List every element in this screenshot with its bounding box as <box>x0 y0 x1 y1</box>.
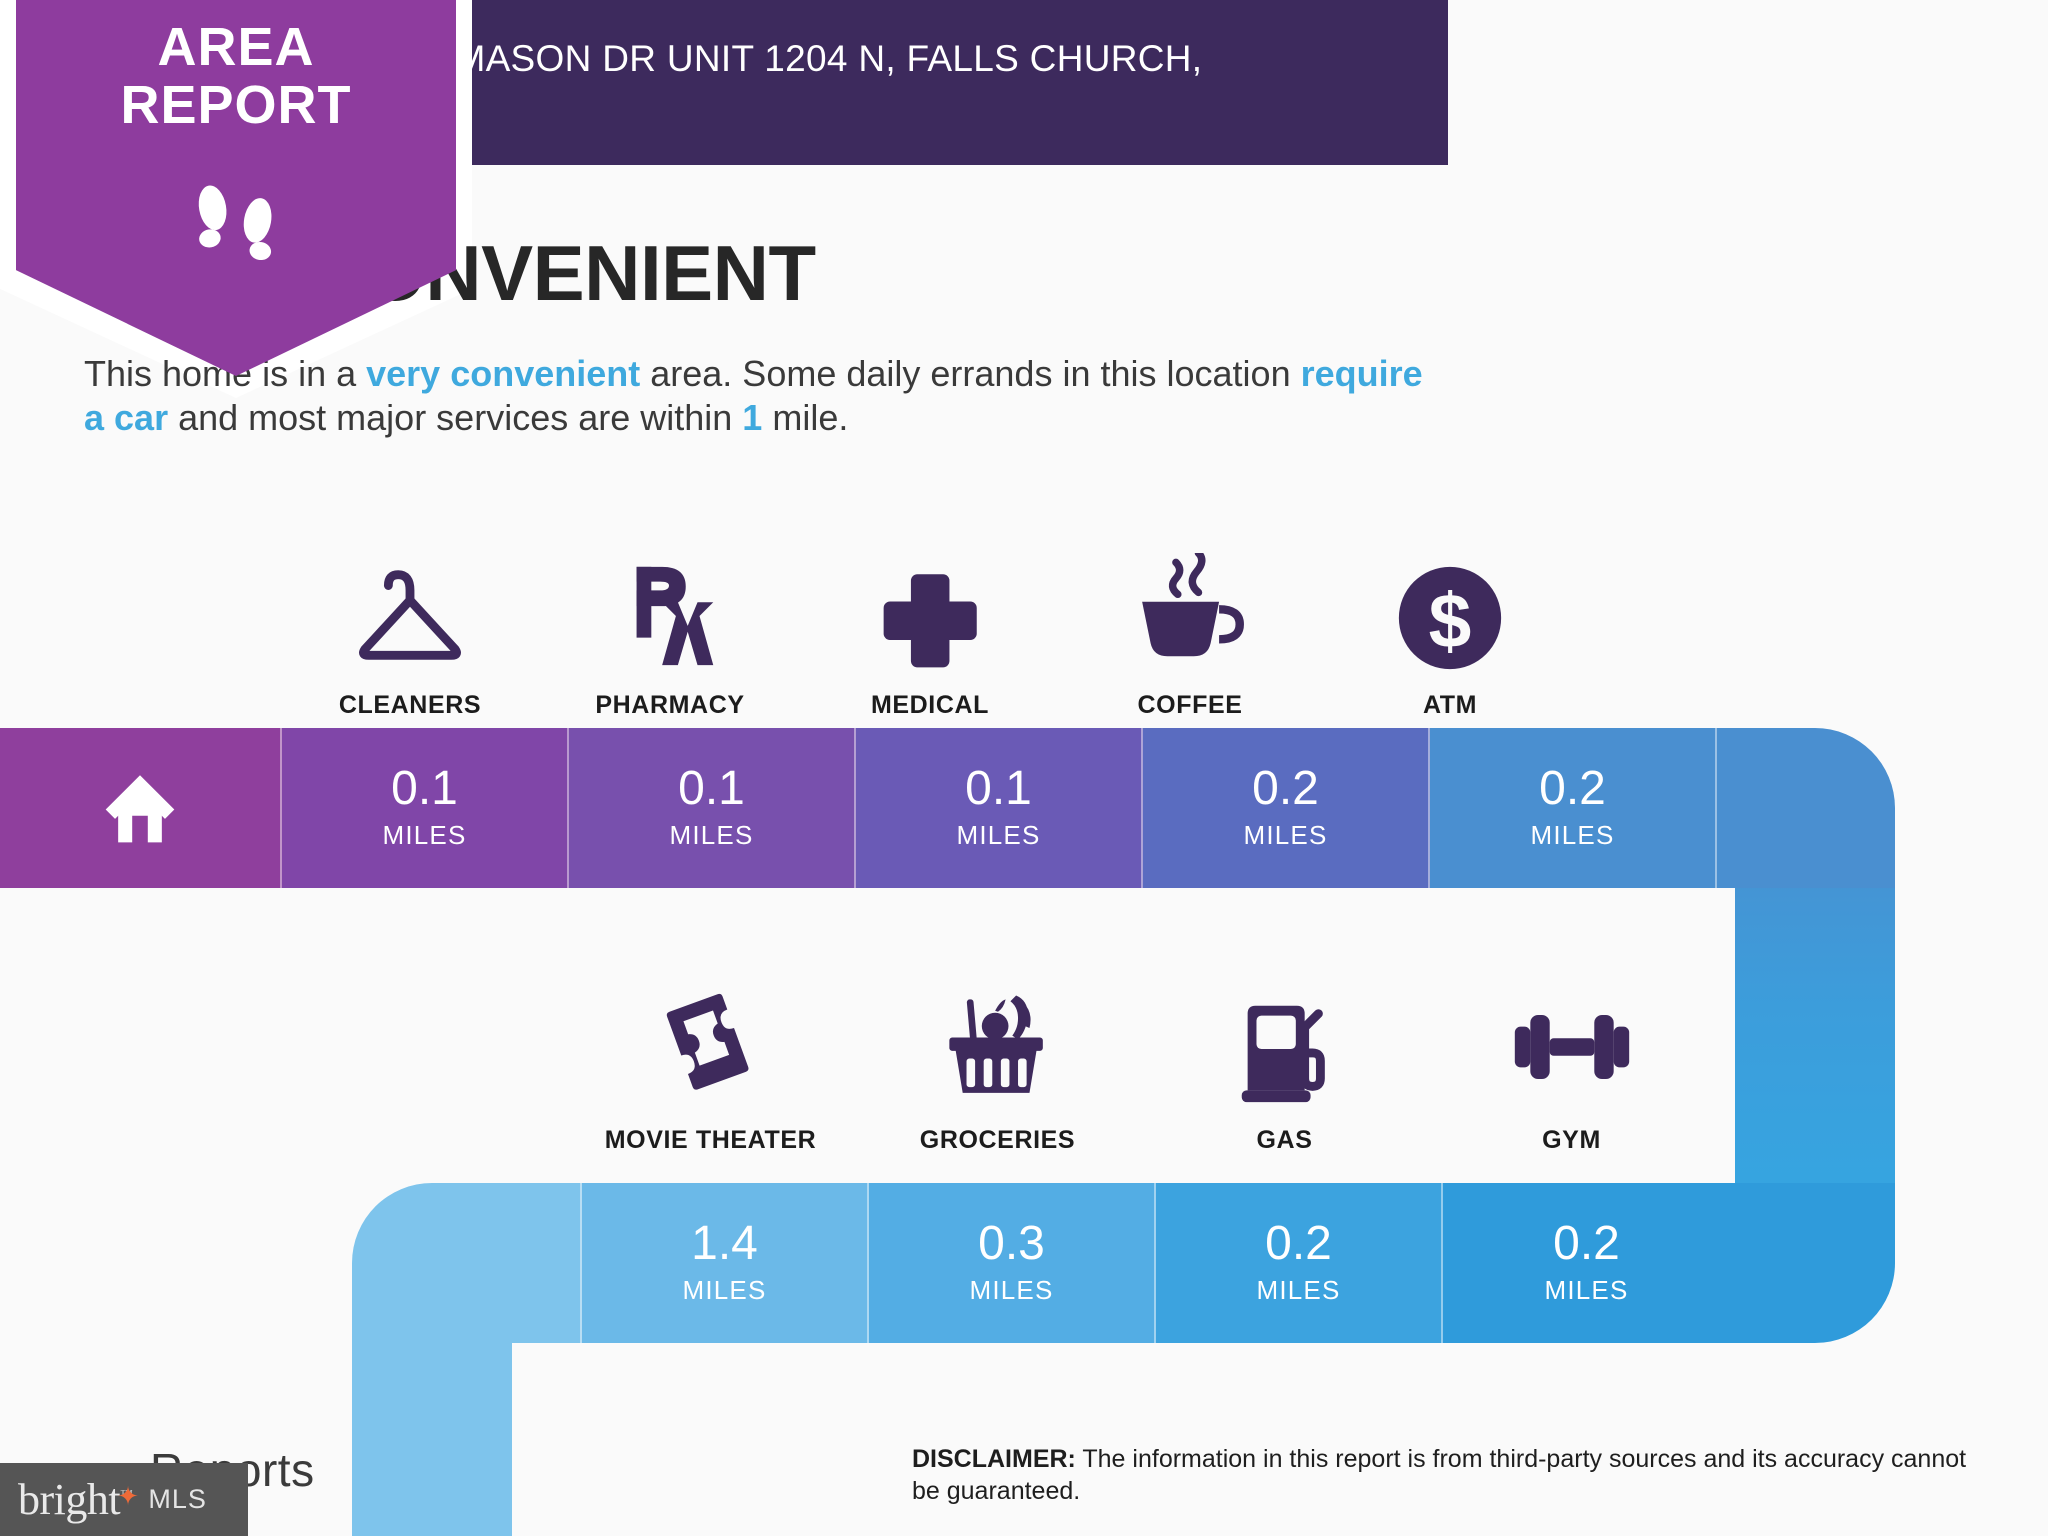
amenity-label: GAS <box>1257 1126 1313 1155</box>
dumbbell-icon <box>1509 990 1635 1110</box>
hanger-icon <box>351 555 469 675</box>
amenity-label: MOVIE THEATER <box>605 1126 817 1155</box>
bar-segment-medical: 0.1 MILES <box>856 728 1143 888</box>
bar-segment-spacer-right <box>1730 1183 1895 1343</box>
desc-highlight-1: very convenient <box>366 353 640 394</box>
ticket-icon <box>652 990 770 1110</box>
bar-segment-gas: 0.2 MILES <box>1156 1183 1443 1343</box>
amenity-gas: GAS <box>1141 955 1428 1155</box>
grocery-basket-icon <box>936 990 1060 1110</box>
distance-value: 0.3 <box>978 1220 1045 1268</box>
desc-part-4: mile. <box>762 397 848 438</box>
amenity-label: ATM <box>1423 691 1477 720</box>
amenity-label: GROCERIES <box>920 1126 1075 1155</box>
distance-value: 0.1 <box>965 765 1032 813</box>
amenity-label: CLEANERS <box>339 691 481 720</box>
distance-unit: MILES <box>1256 1275 1340 1306</box>
amenity-icons-row-1: CLEANERS PHARMACY MEDICAL <box>280 520 1580 720</box>
rx-icon <box>611 555 729 675</box>
amenity-coffee: COFFEE <box>1060 520 1320 720</box>
distance-unit: MILES <box>669 820 753 851</box>
bright-mls-logo: bright™✦ MLS <box>0 1463 248 1536</box>
desc-highlight-3: 1 <box>742 397 762 438</box>
bar-segment-atm: 0.2 MILES <box>1430 728 1717 888</box>
brand-star-icon: ✦ <box>117 1482 138 1512</box>
distance-bar-row-2: 1.4 MILES 0.3 MILES 0.2 MILES 0.2 MILES <box>352 1183 1895 1343</box>
amenity-icons-row-2: MOVIE THEATER <box>567 955 1715 1155</box>
desc-part-2: area. Some daily errands in this locatio… <box>640 353 1300 394</box>
amenity-gym: GYM <box>1428 955 1715 1155</box>
amenity-pharmacy: PHARMACY <box>540 520 800 720</box>
gas-pump-icon <box>1226 990 1344 1110</box>
distance-value: 0.2 <box>1265 1220 1332 1268</box>
distance-unit: MILES <box>682 1275 766 1306</box>
bar-segment-movie-theater: 1.4 MILES <box>582 1183 869 1343</box>
page-description: This home is in a very convenient area. … <box>84 352 1444 440</box>
bar-segment-spacer <box>1717 728 1895 888</box>
bar-segment-coffee: 0.2 MILES <box>1143 728 1430 888</box>
desc-part-3: and most major services are within <box>168 397 742 438</box>
brand-mls-text: MLS <box>148 1484 207 1515</box>
badge-line-1: AREA <box>16 18 456 76</box>
distance-bar-row-1: 0.1 MILES 0.1 MILES 0.1 MILES 0.2 MILES … <box>0 728 1895 888</box>
amenity-medical: MEDICAL <box>800 520 1060 720</box>
disclaimer-label: DISCLAIMER: <box>912 1445 1076 1473</box>
distance-unit: MILES <box>382 820 466 851</box>
bar-connector-left <box>352 1313 512 1536</box>
distance-value: 0.2 <box>1539 765 1606 813</box>
amenity-movie-theater: MOVIE THEATER <box>567 955 854 1155</box>
amenity-cleaners: CLEANERS <box>280 520 540 720</box>
svg-text:$: $ <box>1429 579 1472 664</box>
brand-word: bright <box>18 1475 120 1524</box>
distance-value: 0.2 <box>1553 1220 1620 1268</box>
bar-segment-home <box>0 728 282 888</box>
amenity-label: COFFEE <box>1138 691 1243 720</box>
home-icon <box>101 769 179 847</box>
distance-unit: MILES <box>969 1275 1053 1306</box>
brand-wordmark: bright™✦ <box>0 1474 132 1525</box>
distance-unit: MILES <box>956 820 1040 851</box>
medical-cross-icon <box>874 555 986 675</box>
bar-segment-gym: 0.2 MILES <box>1443 1183 1730 1343</box>
badge-label: AREA REPORT <box>16 18 456 135</box>
distance-value: 0.1 <box>391 765 458 813</box>
bar-segment-spacer-left <box>352 1183 582 1343</box>
distance-unit: MILES <box>1530 820 1614 851</box>
amenity-label: PHARMACY <box>595 691 744 720</box>
badge-line-2: REPORT <box>16 76 456 134</box>
distance-value: 0.2 <box>1252 765 1319 813</box>
bar-segment-cleaners: 0.1 MILES <box>282 728 569 888</box>
distance-unit: MILES <box>1544 1275 1628 1306</box>
bar-segment-pharmacy: 0.1 MILES <box>569 728 856 888</box>
distance-value: 1.4 <box>691 1220 758 1268</box>
area-report-page: 3701 S GEORGE MASON DR UNIT 1204 N, FALL… <box>0 0 2048 1536</box>
amenity-groceries: GROCERIES <box>854 955 1141 1155</box>
distance-unit: MILES <box>1243 820 1327 851</box>
bar-segment-groceries: 0.3 MILES <box>869 1183 1156 1343</box>
dollar-coin-icon: $ <box>1391 555 1509 675</box>
amenity-label: MEDICAL <box>871 691 989 720</box>
amenity-atm: $ ATM <box>1320 520 1580 720</box>
distance-value: 0.1 <box>678 765 745 813</box>
amenity-label: GYM <box>1542 1126 1601 1155</box>
footprints-icon <box>16 170 456 278</box>
disclaimer: DISCLAIMER: The information in this repo… <box>912 1443 1972 1507</box>
coffee-cup-icon <box>1129 555 1251 675</box>
